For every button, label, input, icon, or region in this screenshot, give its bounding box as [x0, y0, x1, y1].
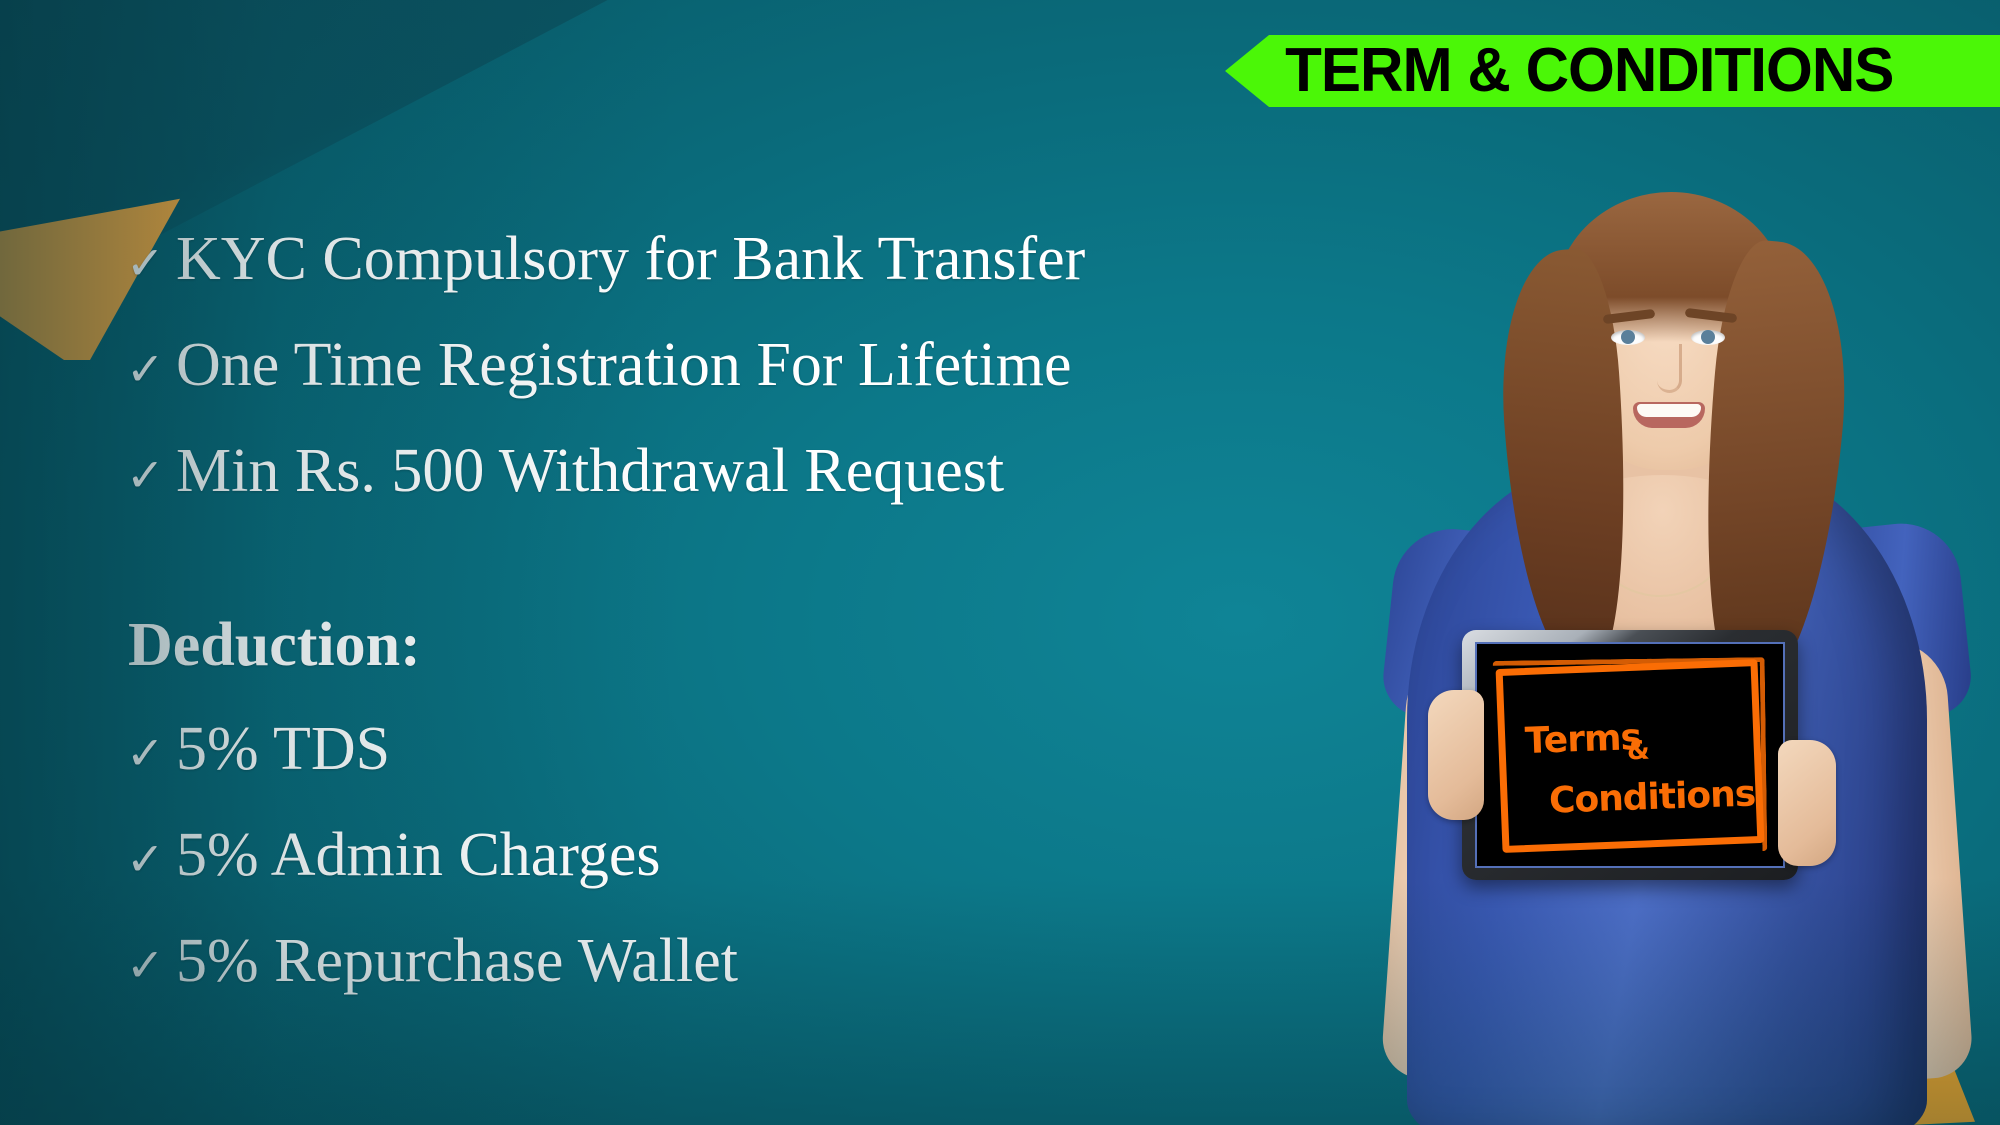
section-spacer: [126, 546, 1186, 614]
check-icon: ✓: [126, 836, 176, 882]
iris-right: [1701, 330, 1715, 344]
tablet-text-conditions: Conditions: [1548, 776, 1755, 819]
check-icon: ✓: [126, 346, 176, 392]
check-icon: ✓: [126, 942, 176, 988]
teeth: [1637, 404, 1701, 417]
check-icon: ✓: [126, 452, 176, 498]
hand-right: [1778, 740, 1836, 866]
tablet-screen: Terms & Conditions: [1475, 642, 1785, 868]
list-item-label: 5% Admin Charges: [176, 824, 661, 886]
list-item: ✓ 5% Admin Charges: [126, 824, 1186, 930]
nose: [1657, 344, 1682, 393]
tablet-text-terms: Terms: [1524, 720, 1641, 760]
check-icon: ✓: [126, 240, 176, 286]
tablet-text-ampersand: &: [1626, 736, 1650, 767]
person-photo: [1355, 130, 2000, 1125]
hand-left: [1428, 690, 1484, 820]
bullet-content: ✓ KYC Compulsory for Bank Transfer ✓ One…: [126, 228, 1186, 1036]
list-item: ✓ 5% Repurchase Wallet: [126, 930, 1186, 1036]
list-item: ✓ Min Rs. 500 Withdrawal Request: [126, 440, 1186, 546]
list-item-label: One Time Registration For Lifetime: [176, 334, 1072, 396]
section-heading-deduction: Deduction:: [128, 614, 1186, 718]
list-item-label: Min Rs. 500 Withdrawal Request: [176, 440, 1004, 502]
check-icon: ✓: [126, 730, 176, 776]
list-item-label: 5% Repurchase Wallet: [176, 930, 738, 992]
list-item: ✓ KYC Compulsory for Bank Transfer: [126, 228, 1186, 334]
list-item: ✓ One Time Registration For Lifetime: [126, 334, 1186, 440]
list-item: ✓ 5% TDS: [126, 718, 1186, 824]
slide-canvas: Terms & Conditions TERM & CONDITIONS ✓ K…: [0, 0, 2000, 1125]
list-item-label: KYC Compulsory for Bank Transfer: [176, 228, 1085, 290]
mouth: [1633, 402, 1705, 428]
tablet-device: Terms & Conditions: [1462, 630, 1798, 880]
iris-left: [1621, 330, 1635, 344]
title-banner: TERM & CONDITIONS: [1225, 35, 2000, 107]
page-title: TERM & CONDITIONS: [1225, 40, 1893, 102]
list-item-label: 5% TDS: [176, 718, 390, 780]
